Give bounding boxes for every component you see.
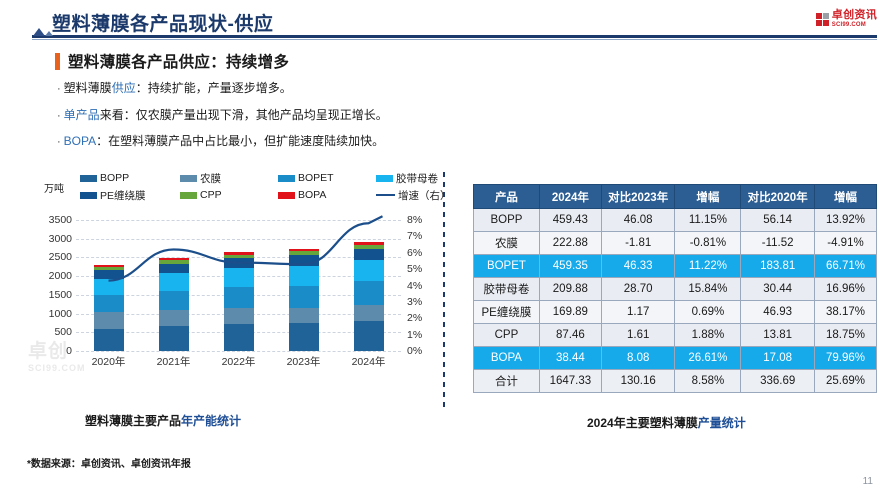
table-cell: 46.33: [601, 255, 675, 278]
table-row: BOPA38.448.0826.61%17.0879.96%: [474, 347, 877, 370]
table-cell: 11.22%: [675, 255, 741, 278]
legend-color-swatch: [376, 175, 393, 182]
table-cell: 459.35: [539, 255, 601, 278]
chart-caption-plain: 塑料薄膜主要产品: [85, 414, 181, 428]
bullet-rest: ：在塑料薄膜产品中占比最小，但扩能速度陆续加快。: [96, 135, 384, 148]
legend-color-swatch: [80, 175, 97, 182]
bullet-rest: 来看：仅农膜产量出现下滑，其他产品均呈现正增长。: [100, 109, 388, 122]
headline-accent-bar: [55, 53, 60, 70]
table-cell: 183.81: [741, 255, 815, 278]
data-source-note: *数据来源：卓创资讯、卓创资讯年报: [27, 455, 191, 470]
table-row: PE缠绕膜169.891.170.69%46.9338.17%: [474, 301, 877, 324]
table-row: 合计1647.33130.168.58%336.6925.69%: [474, 370, 877, 393]
table-cell: 38.17%: [814, 301, 876, 324]
bullet-highlight: BOPA: [64, 135, 96, 148]
table-cell: PE缠绕膜: [474, 301, 540, 324]
legend-item: BOPP: [80, 172, 129, 184]
table-cell: 1647.33: [539, 370, 601, 393]
table-column-header: 增幅: [675, 185, 741, 209]
table-column-header: 对比2023年: [601, 185, 675, 209]
table-column-header: 产品: [474, 185, 540, 209]
bullet-marker: ·: [57, 111, 61, 123]
table-cell: -11.52: [741, 232, 815, 255]
brand-logo: 卓创资讯 SCI99.COM: [816, 10, 877, 28]
bullet-marker: ·: [57, 84, 61, 96]
bullet-item: · 单产品 来看：仅农膜产量出现下滑，其他产品均呈现正增长。: [57, 109, 497, 123]
legend-label: 增速（右）: [398, 188, 451, 203]
bullet-item: · BOPA ：在塑料薄膜产品中占比最小，但扩能速度陆续加快。: [57, 135, 497, 149]
bullet-list: · 塑料薄膜 供应 ：持续扩能，产量逐步增多。 · 单产品 来看：仅农膜产量出现…: [57, 82, 497, 162]
bullet-rest: ：持续扩能，产量逐步增多。: [136, 82, 292, 95]
table-cell: 合计: [474, 370, 540, 393]
legend-label: BOPET: [298, 172, 334, 184]
logo-domain: SCI99.COM: [832, 22, 877, 28]
table-cell: -4.91%: [814, 232, 876, 255]
table-cell: 336.69: [741, 370, 815, 393]
table-cell: 15.84%: [675, 278, 741, 301]
table-cell: 1.88%: [675, 324, 741, 347]
table-cell: BOPP: [474, 209, 540, 232]
production-table-wrap: 产品2024年对比2023年增幅对比2020年增幅 BOPP459.4346.0…: [473, 184, 877, 393]
table-cell: 18.75%: [814, 324, 876, 347]
table-cell: 8.08: [601, 347, 675, 370]
table-row: CPP87.461.611.88%13.8118.75%: [474, 324, 877, 347]
table-cell: 0.69%: [675, 301, 741, 324]
chart-unit-label: 万吨: [44, 180, 64, 195]
table-cell: 130.16: [601, 370, 675, 393]
legend-color-swatch: [80, 192, 97, 199]
legend-item: 农膜: [180, 171, 221, 186]
legend-line-swatch: [376, 194, 395, 197]
table-caption-blue: 产量统计: [698, 416, 746, 430]
table-row: 农膜222.88-1.81-0.81%-11.52-4.91%: [474, 232, 877, 255]
table-row: 胶带母卷209.8828.7015.84%30.4416.96%: [474, 278, 877, 301]
table-column-header: 对比2020年: [741, 185, 815, 209]
legend-label: 农膜: [200, 171, 221, 186]
headline-text: 塑料薄膜各产品供应：持续增多: [68, 50, 289, 72]
bullet-lead: 塑料薄膜: [64, 82, 112, 95]
table-column-header: 增幅: [814, 185, 876, 209]
production-table: 产品2024年对比2023年增幅对比2020年增幅 BOPP459.4346.0…: [473, 184, 877, 393]
legend-color-swatch: [180, 175, 197, 182]
legend-label: CPP: [200, 189, 222, 201]
table-cell: BOPA: [474, 347, 540, 370]
table-header-row: 产品2024年对比2023年增幅对比2020年增幅: [474, 185, 877, 209]
table-row: BOPET459.3546.3311.22%183.8166.71%: [474, 255, 877, 278]
table-cell: CPP: [474, 324, 540, 347]
legend-label: PE缠绕膜: [100, 188, 146, 203]
legend-item: PE缠绕膜: [80, 188, 146, 203]
page-number: 11: [863, 476, 873, 487]
table-row: BOPP459.4346.0811.15%56.1413.92%: [474, 209, 877, 232]
table-cell: 66.71%: [814, 255, 876, 278]
table-cell: -0.81%: [675, 232, 741, 255]
legend-item: CPP: [180, 189, 222, 201]
triangle-marker-small-icon: [45, 31, 53, 36]
triangle-marker-icon: [33, 28, 45, 36]
bullet-marker: ·: [57, 137, 61, 149]
table-cell: 1.17: [601, 301, 675, 324]
table-cell: 11.15%: [675, 209, 741, 232]
table-cell: 46.08: [601, 209, 675, 232]
logo-squares-icon: [816, 13, 829, 26]
table-cell: 222.88: [539, 232, 601, 255]
table-cell: 56.14: [741, 209, 815, 232]
table-body: BOPP459.4346.0811.15%56.1413.92%农膜222.88…: [474, 209, 877, 393]
growth-rate-line: [32, 214, 437, 369]
bullet-item: · 塑料薄膜 供应 ：持续扩能，产量逐步增多。: [57, 82, 497, 96]
table-cell: 38.44: [539, 347, 601, 370]
table-cell: -1.81: [601, 232, 675, 255]
legend-color-swatch: [278, 175, 295, 182]
bullet-highlight: 供应: [112, 82, 136, 95]
table-cell: 459.43: [539, 209, 601, 232]
table-cell: 169.89: [539, 301, 601, 324]
legend-item: 胶带母卷: [376, 171, 438, 186]
legend-label: BOPA: [298, 189, 326, 201]
table-cell: 13.81: [741, 324, 815, 347]
capacity-chart: 万吨 BOPP农膜BOPET胶带母卷 PE缠绕膜CPPBOPA增速（右） 050…: [32, 176, 437, 391]
table-cell: 26.61%: [675, 347, 741, 370]
table-cell: 17.08: [741, 347, 815, 370]
bullet-highlight: 单产品: [64, 109, 100, 122]
table-caption: 2024年主要塑料薄膜产量统计: [587, 414, 746, 431]
table-cell: 30.44: [741, 278, 815, 301]
table-cell: 8.58%: [675, 370, 741, 393]
legend-item: BOPET: [278, 172, 334, 184]
table-cell: 胶带母卷: [474, 278, 540, 301]
table-cell: 46.93: [741, 301, 815, 324]
table-cell: 87.46: [539, 324, 601, 347]
chart-plot-area: 05001000150020002500300035000%1%2%3%4%5%…: [32, 214, 437, 369]
table-column-header: 2024年: [539, 185, 601, 209]
table-cell: 13.92%: [814, 209, 876, 232]
legend-label: BOPP: [100, 172, 129, 184]
table-cell: BOPET: [474, 255, 540, 278]
table-cell: 1.61: [601, 324, 675, 347]
legend-label: 胶带母卷: [396, 171, 438, 186]
legend-color-swatch: [278, 192, 295, 199]
slide: 塑料薄膜各产品现状-供应 卓创资讯 SCI99.COM 塑料薄膜各产品供应：持续…: [0, 0, 889, 500]
table-cell: 28.70: [601, 278, 675, 301]
slide-header: 塑料薄膜各产品现状-供应 卓创资讯 SCI99.COM: [0, 0, 889, 44]
table-cell: 16.96%: [814, 278, 876, 301]
table-cell: 农膜: [474, 232, 540, 255]
header-rule-secondary: [32, 39, 877, 40]
legend-item: BOPA: [278, 189, 326, 201]
chart-caption-blue: 年产能统计: [181, 414, 241, 428]
table-cell: 25.69%: [814, 370, 876, 393]
section-headline: 塑料薄膜各产品供应：持续增多: [55, 50, 289, 72]
chart-caption: 塑料薄膜主要产品年产能统计: [85, 412, 241, 429]
page-title: 塑料薄膜各产品现状-供应: [52, 9, 273, 36]
legend-color-swatch: [180, 192, 197, 199]
table-cell: 209.88: [539, 278, 601, 301]
header-rule: [32, 35, 877, 38]
legend-item: 增速（右）: [376, 188, 451, 203]
logo-name: 卓创资讯: [832, 10, 877, 21]
section-divider: [443, 172, 445, 410]
table-cell: 79.96%: [814, 347, 876, 370]
table-caption-plain: 2024年主要塑料薄膜: [587, 416, 698, 430]
